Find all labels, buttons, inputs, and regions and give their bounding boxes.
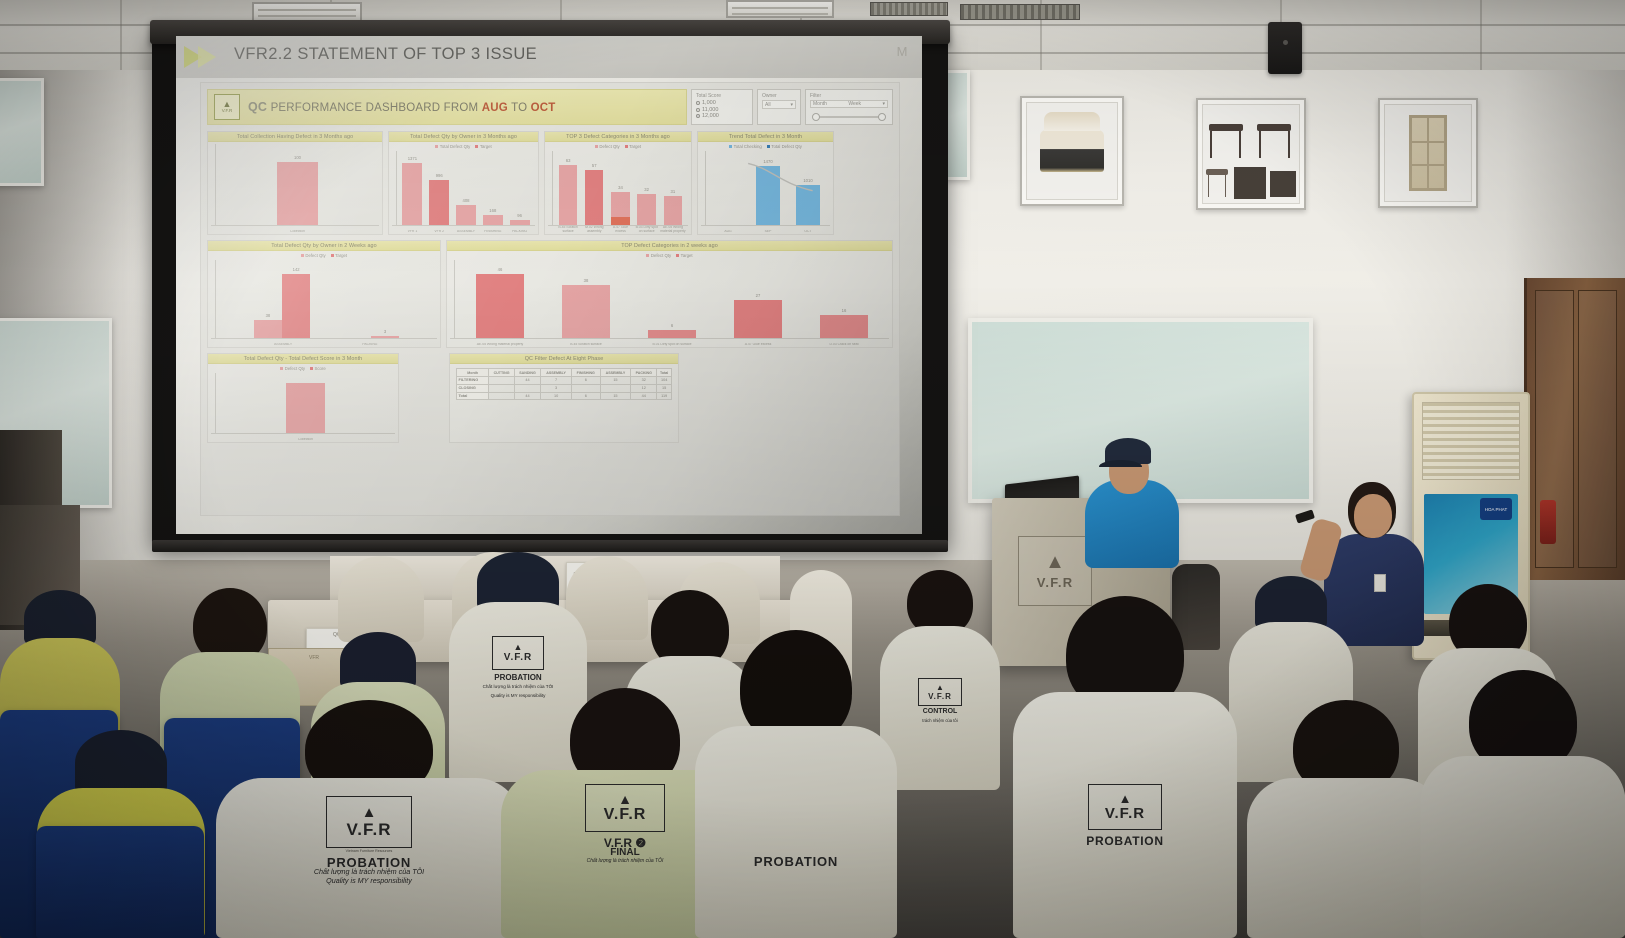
score-option-label: 12,000: [702, 113, 719, 120]
ac-grill: [1422, 402, 1520, 480]
presentation-room-scene: VFR2.2 STATEMENT OF TOP 3 ISSUE M ▲ V.F.…: [0, 0, 1625, 938]
table-cell: 12: [631, 384, 657, 392]
audience-member: ▲ V.F.R PROBATION: [1012, 596, 1238, 938]
qc-dashboard: ▲ V.F.R QC PERFORMANCE DASHBOARD FROM AU…: [200, 82, 900, 516]
period-select-value: Month: [813, 101, 827, 107]
uniform-slogan-vi: trách nhiệm của tôi: [888, 717, 992, 724]
ceiling-vent: [960, 4, 1080, 20]
table-cell: 10: [541, 392, 572, 400]
legend-label: Defect Qty: [599, 144, 619, 149]
period-range-slider[interactable]: [810, 112, 888, 121]
legend-swatch: [767, 145, 770, 148]
uniform-logo-text: V.F.R: [346, 820, 391, 840]
uniform-role: PROBATION: [254, 859, 484, 866]
uniform-print: ▲ V.F.R Vietnam Furniture Resources PROB…: [254, 796, 484, 884]
bar-value-label: 63: [566, 158, 571, 163]
panel-plot-area: Collection: [216, 373, 395, 434]
wall-speaker: [1268, 22, 1302, 74]
dashboard-title-band: ▲ V.F.R QC PERFORMANCE DASHBOARD FROM AU…: [207, 89, 687, 125]
audience-member: ▲ V.F.R CONTROL trách nhiệm của tôi: [880, 570, 1000, 938]
table-cell: [489, 376, 515, 384]
panel-title: Total Defect Qty by Owner in 3 Months ag…: [389, 132, 538, 142]
legend-swatch: [646, 254, 649, 257]
legend-swatch: [475, 145, 478, 148]
uniform-logo-text: V.F.R: [1105, 805, 1145, 822]
dashboard-title-text: QC PERFORMANCE DASHBOARD FROM AUG TO OCT: [248, 100, 556, 114]
tree-icon: ▲: [1045, 553, 1065, 571]
table-col-header: PACKING: [631, 369, 657, 377]
total-score-filter[interactable]: Total Score 1,000 11,000 12,000: [691, 89, 753, 125]
x-axis-label: B.03 Dirty spot on surface: [634, 226, 660, 234]
table-col-header: ASSEMBLY: [600, 369, 631, 377]
audience-shirt: [695, 726, 897, 938]
x-axis-label: PACKING: [327, 343, 414, 347]
table-header-row: Month CUTTING SANDING ASSEMBLY FINISHING…: [457, 369, 672, 377]
ceiling-light-panel: [726, 0, 834, 18]
table-cell: [514, 384, 540, 392]
bar-value-label: 3: [384, 329, 386, 334]
bar-value-label: 16: [842, 308, 847, 313]
legend-swatch: [676, 254, 679, 257]
uniform-logo: ▲ V.F.R: [918, 678, 962, 706]
legend-swatch: [729, 145, 732, 148]
chevron-down-icon: ▾: [790, 102, 793, 108]
table-cell: 104: [657, 376, 672, 384]
dashboard-month-from: AUG: [482, 102, 508, 114]
panel-title: Total Defect Qty by Owner in 2 Weeks ago: [208, 241, 440, 251]
audience-member: [36, 730, 206, 938]
x-axis-label: B.45 Scratch surface: [555, 226, 581, 234]
legend-swatch: [435, 145, 438, 148]
table-row: FILTERING 44 7 6 15 32 104: [457, 376, 672, 384]
dashboard-row-3: Total Defect Qty - Total Defect Score in…: [207, 353, 893, 443]
uniform-logo: ▲ V.F.R: [492, 636, 544, 670]
x-axis-label: PACKING: [506, 230, 533, 234]
legend-label: Defect Qty: [305, 253, 325, 258]
panel-spacer: [404, 353, 444, 443]
slide-header: VFR2.2 STATEMENT OF TOP 3 ISSUE M: [176, 36, 922, 78]
legend-label: Target: [629, 144, 641, 149]
tree-icon: ▲: [1119, 792, 1132, 805]
score-option-radio-selected[interactable]: 12,000: [696, 113, 748, 120]
bar-value-label: 46: [498, 267, 503, 272]
table-cell: 7: [541, 376, 572, 384]
legend-swatch: [280, 367, 283, 370]
baseball-cap: [1105, 438, 1151, 464]
drawer-illustration: [1270, 171, 1295, 197]
tree-icon: ▲: [618, 792, 632, 806]
x-axis-label: VFR 2: [426, 230, 453, 234]
audience-shirt: [1247, 778, 1445, 938]
panel-title: Trend Total Defect in 3 Month: [698, 132, 833, 142]
panel-legend: Defect Qty Target: [545, 142, 691, 149]
drawer-illustration: [1234, 167, 1266, 199]
panel-legend: Defect Qty Target: [208, 251, 440, 258]
tree-icon: ▲: [514, 643, 523, 652]
legend-label: Target: [681, 253, 693, 258]
dashboard-title-to: TO: [511, 102, 527, 114]
panel-trend-total-defect-3m[interactable]: Trend Total Defect in 3 Month Total Chec…: [697, 131, 834, 235]
table-row-label: FILTERING: [457, 376, 489, 384]
legend-item: Defect Qty: [595, 144, 620, 149]
x-axis-label: D.03 Crack on seat: [801, 343, 887, 347]
poster-side-tables: [1196, 98, 1306, 210]
panel-defect-qty-by-owner-3m[interactable]: Total Defect Qty by Owner in 3 Months ag…: [388, 131, 539, 235]
panel-plot-area: 63 57 34 32 31: [553, 151, 688, 226]
legend-label: Total Checking: [734, 144, 762, 149]
qc-filter-defect-table[interactable]: Month CUTTING SANDING ASSEMBLY FINISHING…: [456, 368, 672, 400]
dashboard-title-qc: QC: [248, 100, 267, 114]
table-row-total: Total 44 10 6 15 44 119: [457, 392, 672, 400]
legend-item: Target: [625, 144, 641, 149]
uniform-role: PROBATION: [463, 674, 573, 681]
slider-track: [814, 116, 884, 118]
dashboard-header: ▲ V.F.R QC PERFORMANCE DASHBOARD FROM AU…: [207, 89, 893, 125]
side-table-illustration: [1257, 124, 1291, 159]
legend-item: Defect Qty: [301, 253, 326, 258]
chevron-down-icon: ▾: [882, 101, 885, 107]
bar-value-label: 168: [489, 208, 496, 213]
legend-item: Target: [475, 144, 491, 149]
panel-top3-defect-categories-3m[interactable]: TOP 3 Defect Categories in 3 Months ago …: [544, 131, 692, 235]
slider-knob-max[interactable]: [878, 113, 886, 121]
x-axis-label: A.47 Glue excess: [715, 343, 801, 347]
panel-title: QC Filter Defect At Eight Phase: [450, 354, 678, 364]
x-axis-label: Collection: [218, 230, 377, 234]
table-cell: 119: [657, 392, 672, 400]
panel-top-defect-categories-2w[interactable]: TOP Defect Categories in 2 weeks ago Def…: [446, 240, 893, 348]
uniform-slogan-vi: Chất lượng là trách nhiệm của TÔI: [254, 868, 484, 875]
legend-label: Total Defect Qty: [440, 144, 471, 149]
panel-plot-area: 38 142 3 ASSEMBLY PACKING: [216, 260, 437, 339]
table-cell: 15: [600, 392, 631, 400]
bar-value-label: 27: [756, 293, 761, 298]
stool-illustration: [1206, 169, 1227, 197]
ac-brand-badge: HOA PHAT: [1480, 498, 1512, 520]
legend-label: Defect Qty: [651, 253, 671, 258]
period-select-value2: Week: [848, 101, 861, 107]
legend-label: Target: [335, 253, 347, 258]
panel-legend: Defect Qty Score: [208, 364, 398, 371]
uniform-slogan-en: Quality is MY responsibility: [254, 877, 484, 884]
legend-item: Defect Qty: [280, 366, 305, 371]
radio-dot-icon: [696, 108, 700, 112]
audience-shirt: [1420, 756, 1625, 938]
x-axis-label: B.45 Scratch surface: [543, 343, 629, 347]
legend-label: Target: [480, 144, 492, 149]
presenter-face: [1354, 494, 1392, 538]
office-chair-back: [338, 556, 424, 642]
dashboard-title-main: PERFORMANCE DASHBOARD FROM: [271, 102, 479, 114]
panel-total-collection-defect[interactable]: Total Collection Having Defect in 3 Mont…: [207, 131, 383, 235]
table-cell: [489, 384, 515, 392]
bar-value-label: 31: [670, 189, 675, 194]
legend-label: Total Defect Qty: [771, 144, 802, 149]
x-axis-label: VFR 1: [399, 230, 426, 234]
panel-plot-area: 100 Collection: [216, 144, 379, 226]
legend-item: Score: [310, 366, 326, 371]
vfr-badge-label: V.F.R: [222, 109, 233, 114]
slide-corner-mark: M: [894, 44, 910, 64]
ceiling-light-panel: [252, 2, 362, 22]
period-filter-label: Filter: [810, 93, 888, 99]
podium-logo-label: V.F.R: [1037, 575, 1074, 590]
uniform-logo-text: V.F.R: [504, 652, 533, 663]
dashboard-month-to: OCT: [531, 102, 556, 114]
bar-value-label: 1010: [803, 178, 812, 183]
bar-value-label: 38: [266, 313, 271, 318]
table-cell: 44: [631, 392, 657, 400]
uniform-logo: ▲ V.F.R: [326, 796, 412, 848]
bar-value-label: 57: [592, 163, 597, 168]
legend-swatch: [625, 145, 628, 148]
tree-icon: ▲: [362, 805, 377, 820]
table-col-header: Month: [457, 369, 489, 377]
side-table-illustration: [1209, 124, 1243, 159]
cabinet-illustration: [1409, 115, 1447, 191]
panel-plot-area: 1470 1010 AUG SEP OC: [706, 151, 830, 226]
owner-filter-label: Owner: [762, 93, 796, 99]
uniform-print: ▲ V.F.R CONTROL trách nhiệm của tôi: [888, 678, 992, 724]
table-cell: 44: [514, 392, 540, 400]
slide-title: VFR2.2 STATEMENT OF TOP 3 ISSUE: [234, 45, 537, 64]
table-row-label: CLOSING: [457, 384, 489, 392]
period-select[interactable]: Month Week ▾: [810, 100, 888, 108]
table-col-header: CUTTING: [489, 369, 515, 377]
table-cell: 32: [631, 376, 657, 384]
panel-title: Total Defect Qty - Total Defect Score in…: [208, 354, 398, 364]
legend-item: Defect Qty: [646, 253, 671, 258]
table-cell: [489, 392, 515, 400]
cabinet-door: [1578, 290, 1617, 568]
total-score-label: Total Score: [696, 93, 748, 99]
table-cell: 15: [657, 384, 672, 392]
panel-legend: Total Defect Qty Target: [389, 142, 538, 149]
legend-item: Target: [676, 253, 692, 258]
legend-item: Total Defect Qty: [435, 144, 470, 149]
table-cell: 15: [600, 376, 631, 384]
uniform-role: PROBATION: [1035, 838, 1215, 845]
x-axis-label: FINISHING: [479, 230, 506, 234]
legend-label: Defect Qty: [285, 366, 305, 371]
panel-legend: Defect Qty Target: [447, 251, 892, 258]
audience-cap: [75, 730, 167, 796]
dashboard-row-2: Total Defect Qty by Owner in 2 Weeks ago…: [207, 240, 893, 348]
fire-extinguisher: [1540, 500, 1556, 544]
bar-value-label: 408: [462, 198, 469, 203]
table-cell: [600, 384, 631, 392]
panel-defect-qty-by-owner-2w[interactable]: Total Defect Qty by Owner in 2 Weeks ago…: [207, 240, 441, 348]
audience-member: ▲ V.F.R Vietnam Furniture Resources PROB…: [216, 700, 522, 938]
bar-secondary-segment: [611, 217, 629, 225]
legend-item: Total Checking: [729, 144, 762, 149]
x-axis-label: SEP: [748, 230, 788, 234]
bar-value-label: 6: [671, 323, 673, 328]
bar-value-label: 34: [618, 185, 623, 190]
presenter-at-podium: [1083, 432, 1179, 562]
uniform-logo: ▲ V.F.R: [1088, 784, 1162, 830]
bar-value-label: 996: [436, 173, 443, 178]
bed-illustration: [1040, 130, 1104, 172]
lanyard-badge: [1374, 574, 1386, 592]
chevron-accent-icon: [198, 46, 216, 68]
uniform-role: CONTROL: [888, 708, 992, 715]
bar-value-label: 1470: [763, 159, 772, 164]
uniform-role: PROBATION: [706, 858, 886, 865]
x-axis-label: ASSEMBLY: [240, 343, 327, 347]
ceiling-vent: [870, 2, 948, 16]
panel-legend: Total Checking Total Defect Qty: [698, 142, 833, 149]
poster-bed: [1020, 96, 1124, 206]
panel-defect-qty-vs-score[interactable]: Total Defect Qty - Total Defect Score in…: [207, 353, 399, 443]
table-col-header: ASSEMBLY: [541, 369, 572, 377]
glass-panel-left-upper: [0, 78, 44, 186]
legend-swatch: [331, 254, 334, 257]
audience-member: PROBATION: [694, 630, 898, 938]
legend-swatch: [310, 367, 313, 370]
bar-value-label: 38: [584, 278, 589, 283]
uniform-logo-subtext: Vietnam Furniture Resources: [254, 849, 484, 853]
x-axis-label: B.01 Dirty spot on surface: [629, 343, 715, 347]
audience-member: [1420, 670, 1625, 938]
uniform-logo-text: V.F.R: [604, 806, 647, 824]
vfr-logo-badge: ▲ V.F.R: [214, 94, 240, 120]
panel-title: TOP Defect Categories in 2 weeks ago: [447, 241, 892, 251]
bar-value-label: 96: [517, 213, 522, 218]
uniform-logo: ▲ V.F.R: [585, 784, 665, 832]
projector-screen-bottom-bar: [152, 540, 948, 552]
x-axis-label: M.02 Wrong assembly: [581, 226, 607, 234]
x-axis-label: AE.05 Wrong material property: [457, 343, 543, 347]
legend-label: Score: [315, 366, 326, 371]
table-col-header: Total: [657, 369, 672, 377]
bar-value-label: 1371: [408, 156, 417, 161]
tree-icon: ▲: [936, 684, 944, 692]
table-cell: 6: [571, 392, 600, 400]
dashboard-row-1: Total Collection Having Defect in 3 Mont…: [207, 131, 893, 235]
projected-slide[interactable]: VFR2.2 STATEMENT OF TOP 3 ISSUE M ▲ V.F.…: [176, 36, 922, 534]
table-cell: 3: [541, 384, 572, 392]
panel-plot-area: 1371 996 408 168 96: [397, 151, 535, 226]
panel-title: Total Collection Having Defect in 3 Mont…: [208, 132, 382, 142]
x-axis-label: ASSEMBLY: [453, 230, 480, 234]
uniform-print: ▲ V.F.R PROBATION: [1035, 784, 1215, 845]
bar-value-label: 100: [294, 155, 301, 160]
poster-cabinet: [1378, 98, 1478, 208]
bar-value-label: 142: [293, 267, 300, 272]
legend-swatch: [595, 145, 598, 148]
x-axis-label: A.47 Glue excess: [607, 226, 633, 234]
x-axis-label: OCT: [788, 230, 828, 234]
panel-plot-area: 46 38 6 27 16: [455, 260, 889, 339]
owner-select-value: All: [765, 102, 771, 108]
legend-item: Total Defect Qty: [767, 144, 802, 149]
slider-knob-min[interactable]: [812, 113, 820, 121]
table-cell: 44: [514, 376, 540, 384]
table-cell: 6: [571, 376, 600, 384]
period-filter[interactable]: Filter Month Week ▾: [805, 89, 893, 125]
table-col-header: FINISHING: [571, 369, 600, 377]
table-col-header: SANDING: [514, 369, 540, 377]
panel-title: TOP 3 Defect Categories in 3 Months ago: [545, 132, 691, 142]
legend-swatch: [301, 254, 304, 257]
owner-select[interactable]: All ▾: [762, 100, 796, 109]
legend-item: Target: [331, 253, 347, 258]
x-axis-label: AUG: [708, 230, 748, 234]
dashboard-chart-grid: Total Collection Having Defect in 3 Mont…: [207, 131, 893, 443]
table-cell: [571, 384, 600, 392]
radio-dot-icon: [696, 101, 700, 105]
panel-qc-filter-defect-table[interactable]: QC Filter Defect At Eight Phase Month CU…: [449, 353, 679, 443]
x-axis-label: Collection: [271, 438, 341, 442]
uniform-print: PROBATION: [706, 856, 886, 865]
bar-value-label: 32: [644, 187, 649, 192]
table-row-label: Total: [457, 392, 489, 400]
owner-filter[interactable]: Owner All ▾: [757, 89, 801, 125]
audience-member: [1246, 700, 1446, 938]
table-row: CLOSING 3 12 15: [457, 384, 672, 392]
radio-dot-icon: [696, 114, 700, 118]
uniform-logo-text: V.F.R: [928, 692, 952, 701]
x-axis-label: AE.05 Wrong material property: [660, 226, 686, 234]
